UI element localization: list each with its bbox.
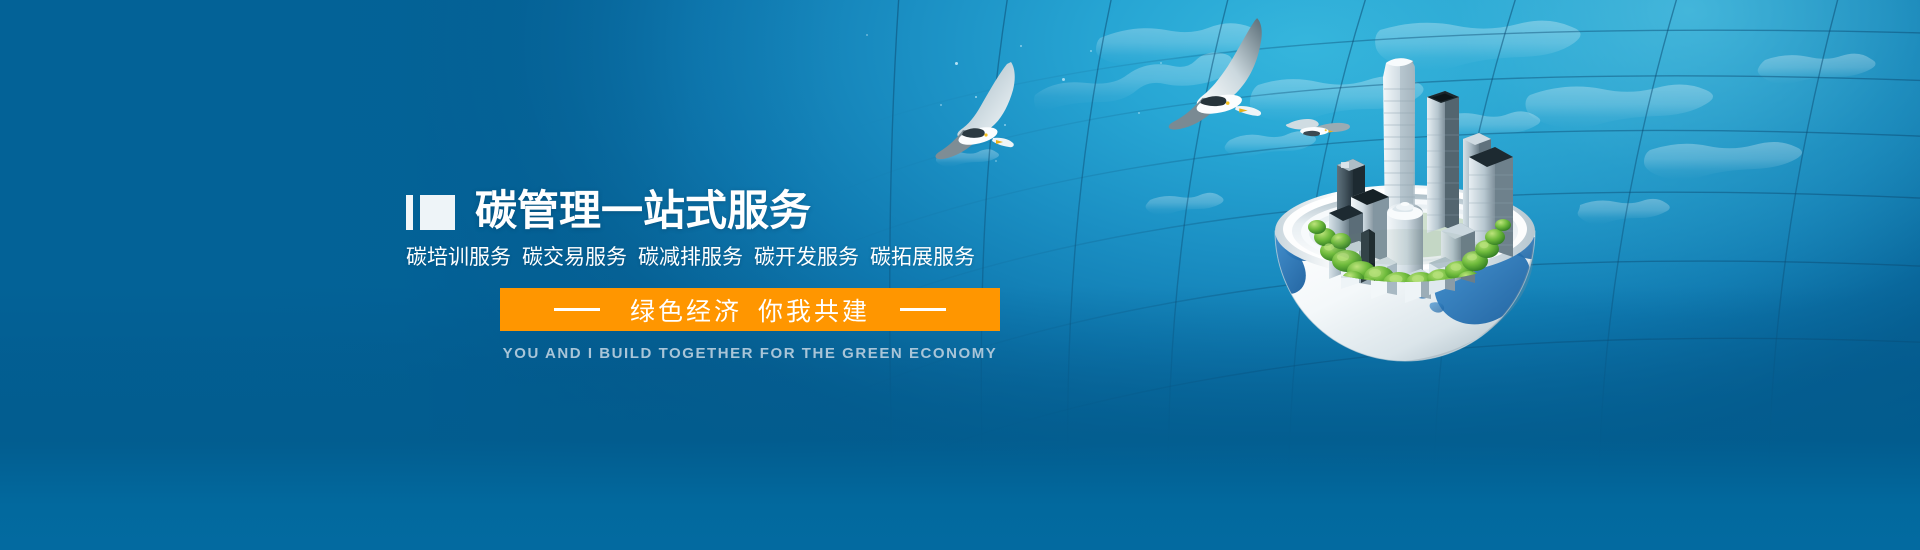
seagull-group (0, 0, 1920, 550)
accent-square-icon (420, 195, 455, 230)
service-item-4: 碳拓展服务 (870, 245, 975, 269)
service-item-0: 碳培训服务 (406, 245, 511, 269)
carbon-management-banner: 碳管理一站式服务 碳培训服务碳交易服务碳减排服务碳开发服务碳拓展服务 绿色经济你… (0, 0, 1920, 550)
banner-text-block: 碳管理一站式服务 碳培训服务碳交易服务碳减排服务碳开发服务碳拓展服务 (406, 185, 1046, 271)
slogan-text: 绿色经济你我共建 (630, 292, 870, 328)
service-item-3: 碳开发服务 (754, 245, 859, 269)
service-item-2: 碳减排服务 (638, 245, 743, 269)
accent-bar-icon (406, 195, 413, 230)
accent-mark-icon (406, 195, 455, 230)
service-item-1: 碳交易服务 (522, 245, 627, 269)
english-tagline: YOU AND I BUILD TOGETHER FOR THE GREEN E… (500, 345, 1000, 362)
seagull-icon-right (1169, 18, 1262, 129)
seagull-icon-left (936, 62, 1015, 159)
service-list: 碳培训服务碳交易服务碳减排服务碳开发服务碳拓展服务 (406, 243, 1046, 271)
slogan-rule-right-icon (900, 308, 946, 311)
slogan-rule-left-icon (554, 308, 600, 311)
earth-hemisphere-with-city (1255, 35, 1555, 365)
slogan-bar: 绿色经济你我共建 (500, 288, 1000, 331)
title-row: 碳管理一站式服务 (406, 185, 1046, 237)
globe-city-illustration (1255, 35, 1555, 365)
page-title: 碳管理一站式服务 (475, 188, 811, 234)
slogan-right: 你我共建 (758, 297, 870, 326)
slogan-left: 绿色经济 (630, 297, 742, 326)
